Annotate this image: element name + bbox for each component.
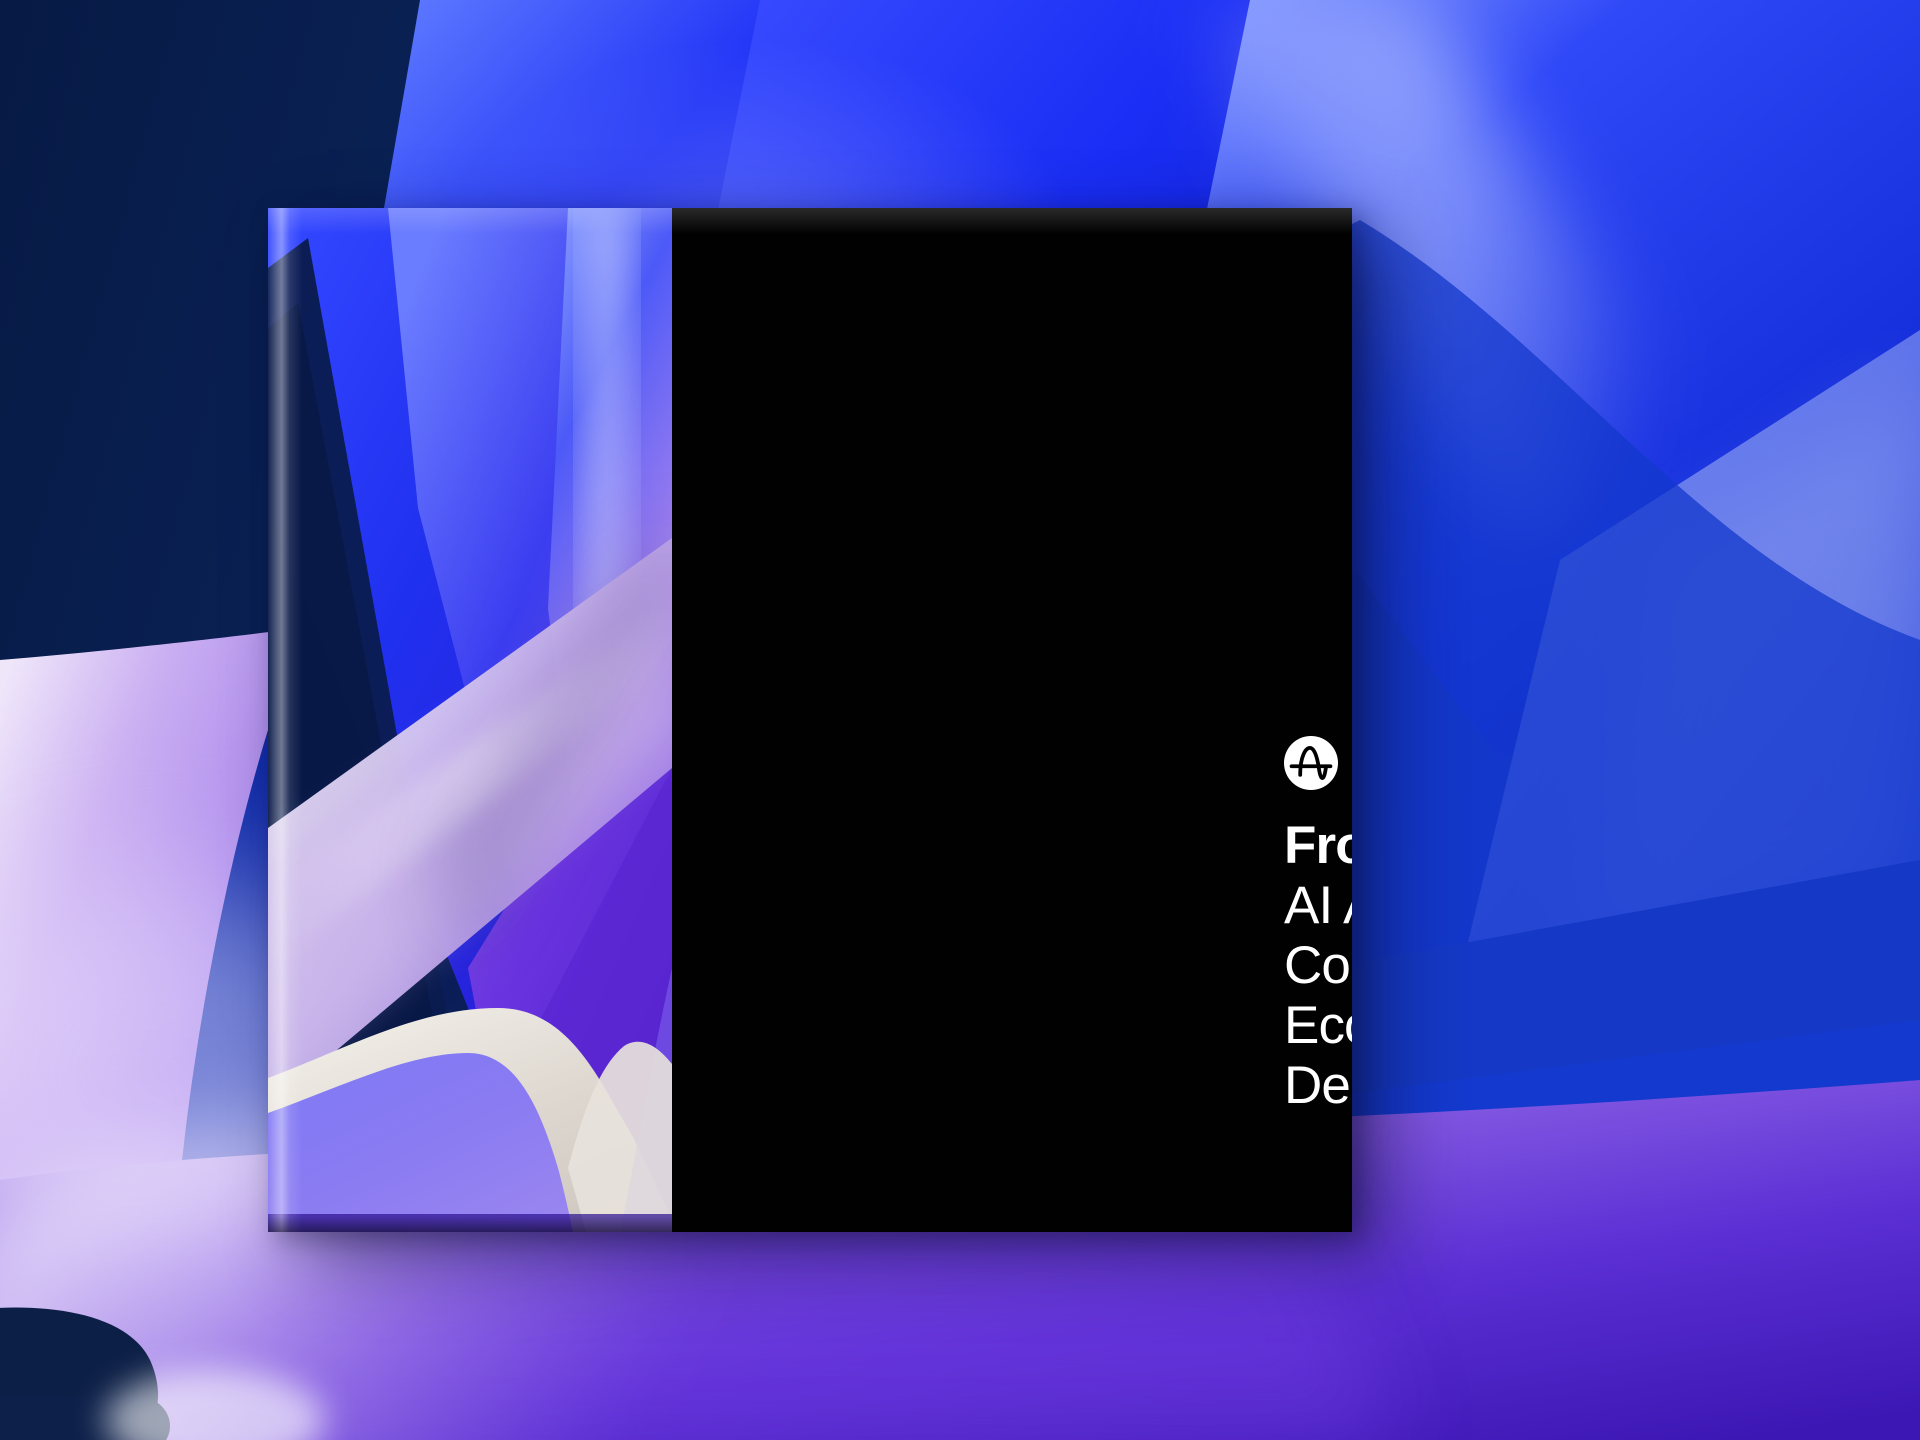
book-mockup: Amplitude From Click to Cart: AI Analyti… xyxy=(268,208,1352,1232)
title-line-2: AI Analytics for xyxy=(1284,876,1352,936)
title-line-1: From Click to Cart: xyxy=(1284,816,1352,876)
book-cover-black-panel xyxy=(672,208,1352,1232)
title-line-5: Delivery, and QSR xyxy=(1284,1056,1352,1116)
amplitude-logo-icon xyxy=(1284,736,1338,790)
cover-title: From Click to Cart: AI Analytics for Con… xyxy=(1284,816,1352,1116)
book-cover-artwork xyxy=(268,208,672,1232)
title-line-4: Ecommerce, xyxy=(1284,996,1352,1056)
ebook-cover-mockup: Amplitude From Click to Cart: AI Analyti… xyxy=(0,0,1920,1440)
title-line-3: Conversion in xyxy=(1284,936,1352,996)
brand-lockup: Amplitude xyxy=(1284,736,1352,790)
